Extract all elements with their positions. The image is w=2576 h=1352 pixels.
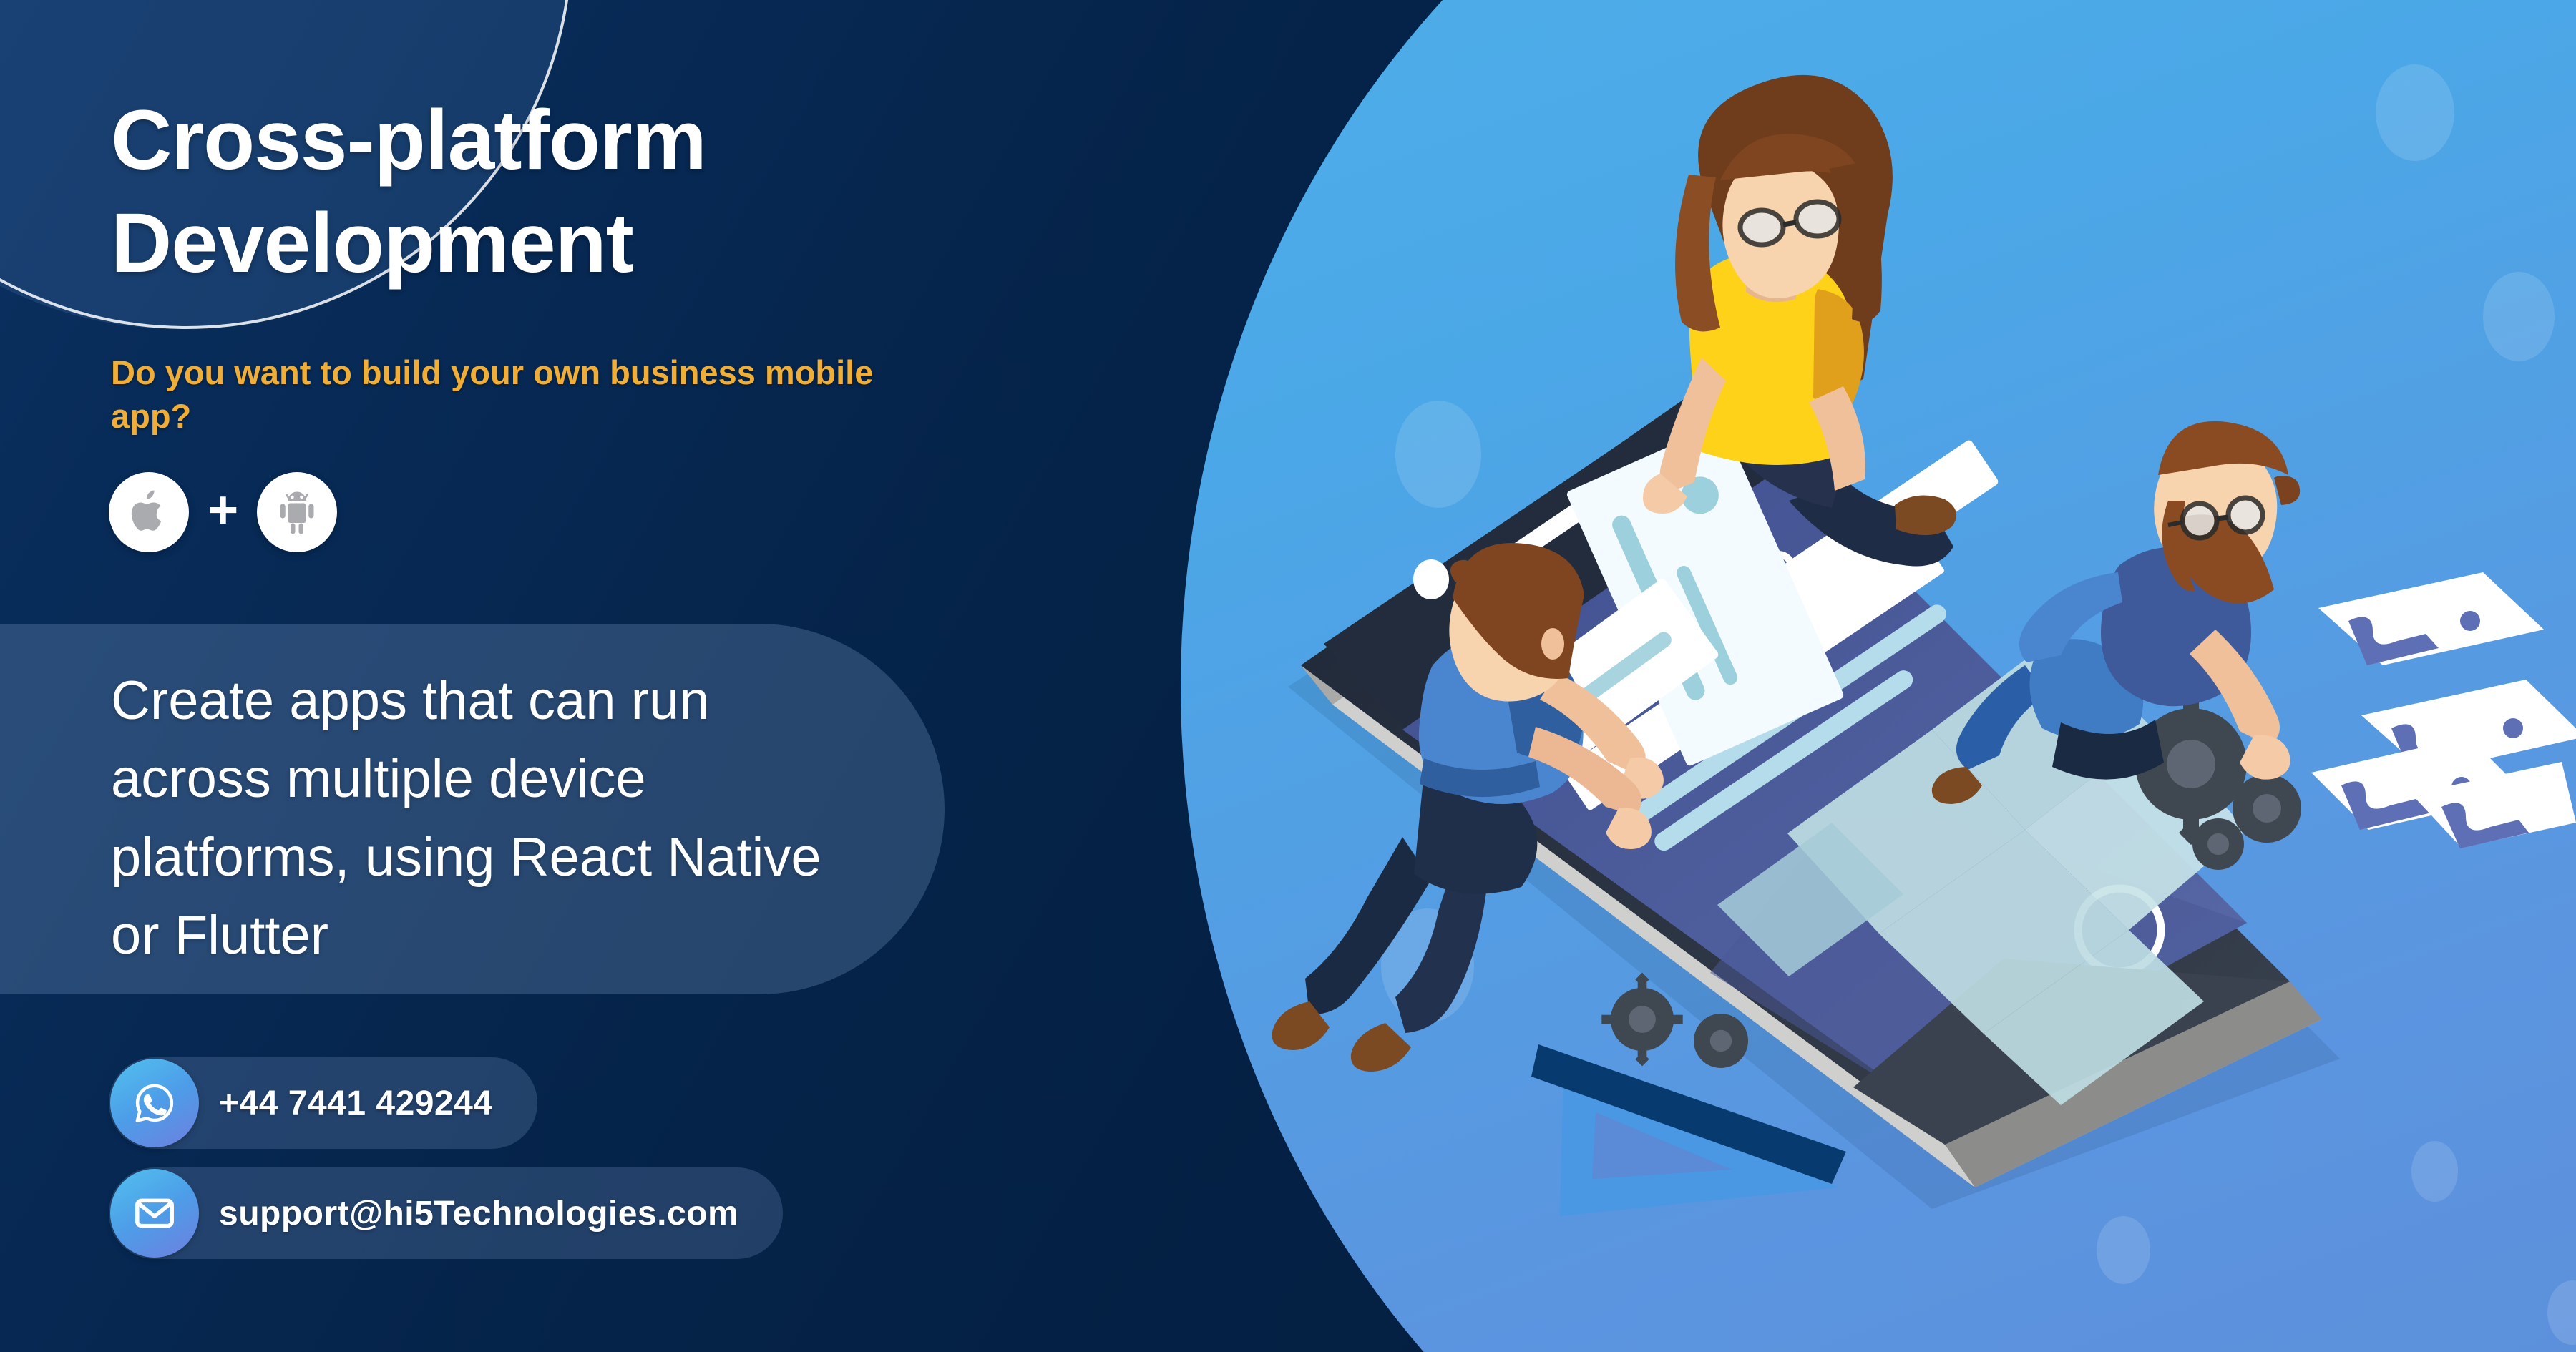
title-line-2: Development bbox=[111, 192, 1041, 295]
contact-value-phone: +44 7441 429244 bbox=[219, 1084, 493, 1123]
apple-badge[interactable] bbox=[109, 472, 189, 552]
plus-icon: + bbox=[208, 484, 238, 537]
android-icon bbox=[272, 486, 322, 538]
contact-list: +44 7441 429244 support@hi5Technologies.… bbox=[109, 1057, 783, 1278]
apple-icon bbox=[126, 487, 172, 537]
marketing-banner: Cross-platform Development Do you want t… bbox=[0, 0, 2576, 1352]
email-icon bbox=[110, 1169, 199, 1258]
contact-chip-email[interactable]: support@hi5Technologies.com bbox=[109, 1167, 783, 1259]
gear-medium bbox=[2233, 774, 2301, 843]
android-badge[interactable] bbox=[257, 472, 337, 552]
gear-small-2 bbox=[1694, 1014, 1748, 1068]
contact-chip-whatsapp[interactable]: +44 7441 429244 bbox=[109, 1057, 537, 1149]
whatsapp-glyph bbox=[131, 1079, 178, 1127]
page-title: Cross-platform Development bbox=[111, 89, 1041, 295]
platform-badges: + bbox=[109, 472, 337, 552]
body-text: Create apps that can run across multiple… bbox=[111, 662, 869, 975]
title-line-1: Cross-platform bbox=[111, 93, 706, 187]
whatsapp-icon bbox=[110, 1059, 199, 1147]
contact-value-email: support@hi5Technologies.com bbox=[219, 1194, 738, 1233]
gear-tiny bbox=[2192, 818, 2244, 870]
subtitle: Do you want to build your own business m… bbox=[111, 351, 912, 438]
envelope-glyph bbox=[131, 1190, 178, 1237]
puzzle-card-1 bbox=[2318, 572, 2544, 665]
